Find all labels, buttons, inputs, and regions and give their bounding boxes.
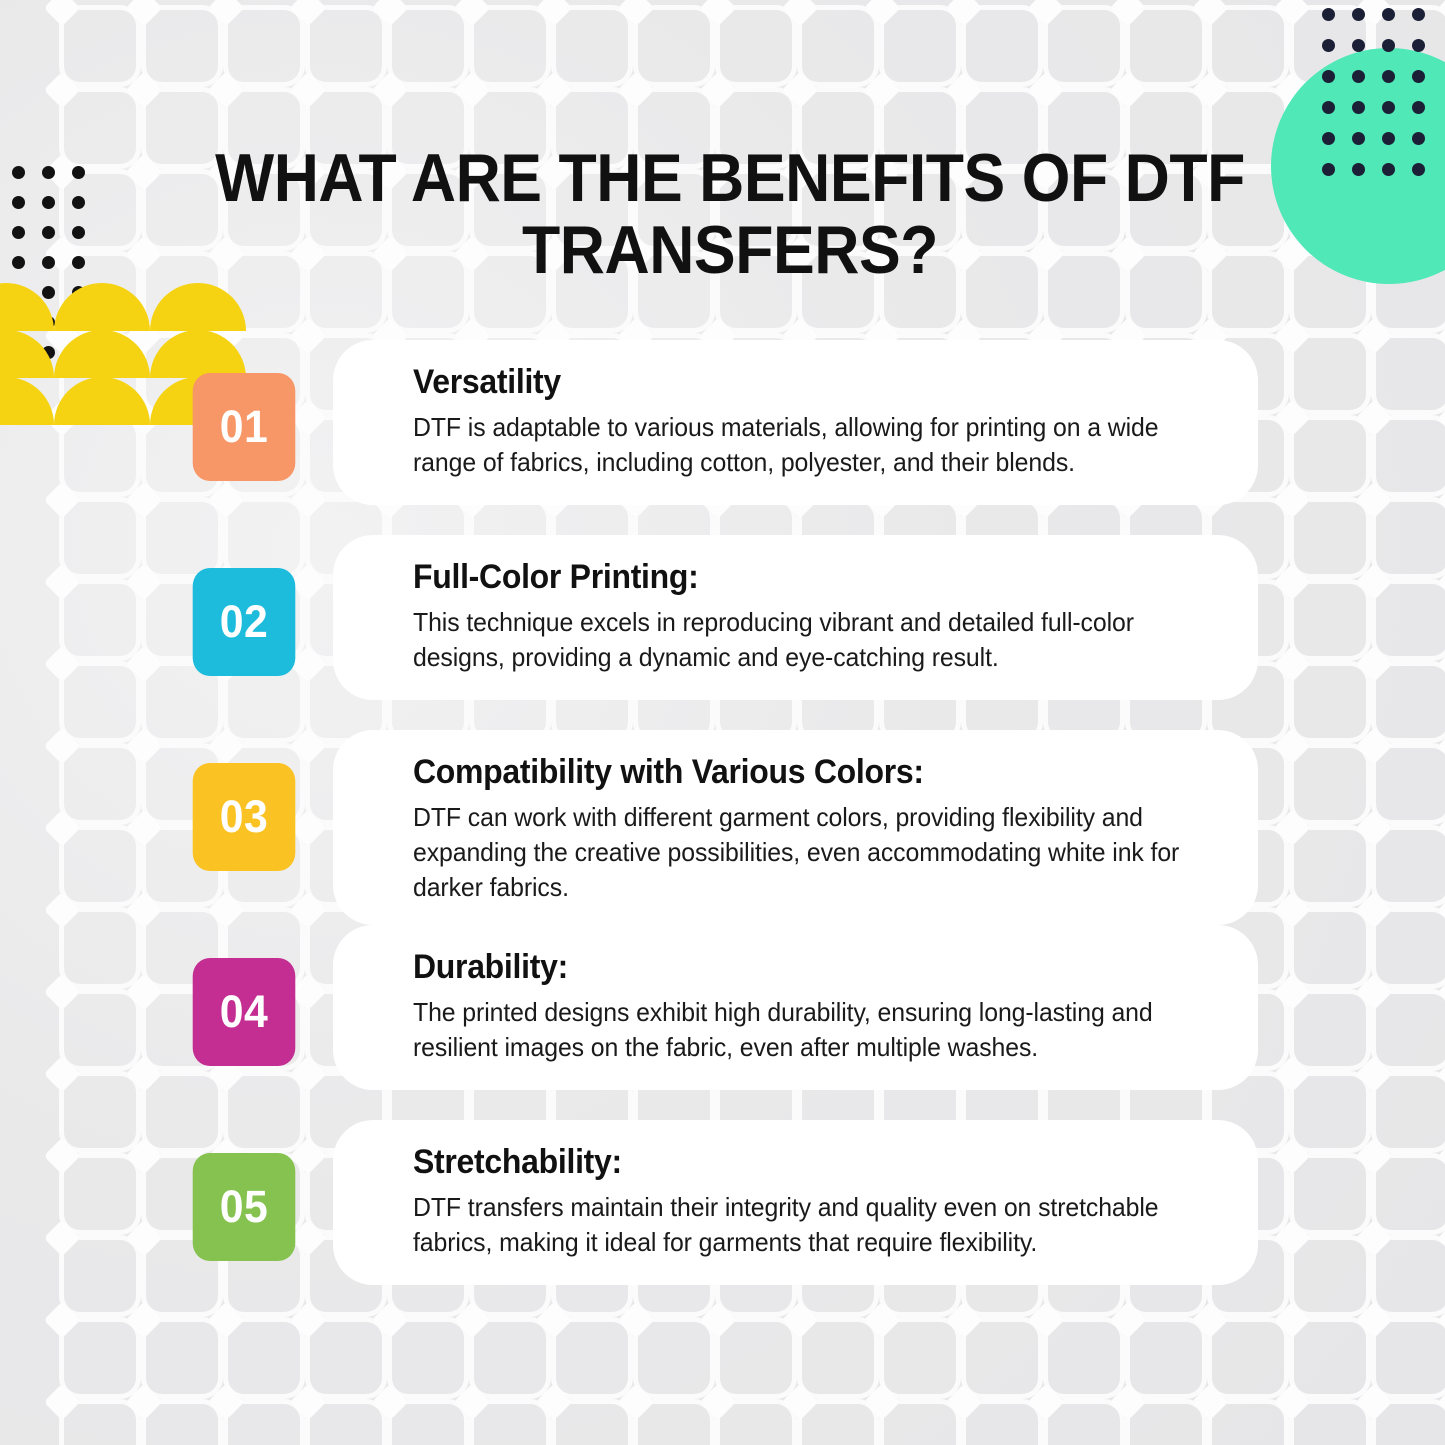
- page-title: WHAT ARE THE BENEFITS OF DTF TRANSFERS?: [187, 142, 1273, 286]
- semicircle: [150, 283, 246, 331]
- grid-diamond: [126, 0, 163, 26]
- benefit-body-text: This technique excels in reproducing vib…: [413, 605, 1184, 675]
- grid-cell: [802, 10, 874, 82]
- grid-diamond: [618, 0, 655, 26]
- grid-diamond: [1110, 0, 1147, 26]
- decorative-dot: [42, 166, 55, 179]
- decorative-dot: [72, 256, 85, 269]
- grid-cell: [392, 10, 464, 82]
- decorative-dot: [1352, 101, 1365, 114]
- benefit-card: Durability:The printed designs exhibit h…: [333, 925, 1258, 1090]
- decorative-dot: [72, 196, 85, 209]
- grid-cell: [802, 1404, 874, 1445]
- decorative-dot: [1382, 70, 1395, 83]
- benefit-row: 02Full-Color Printing:This technique exc…: [0, 535, 1445, 730]
- decorative-dot: [1412, 39, 1425, 52]
- benefit-card: Compatibility with Various Colors:DTF ca…: [333, 730, 1258, 925]
- benefit-row: 04Durability:The printed designs exhibit…: [0, 925, 1445, 1120]
- grid-diamond: [454, 72, 491, 109]
- grid-cell: [556, 10, 628, 82]
- decorative-dot: [1382, 39, 1395, 52]
- benefit-body-text: DTF transfers maintain their integrity a…: [413, 1190, 1184, 1260]
- grid-cell: [64, 1404, 136, 1445]
- decorative-dot: [12, 256, 25, 269]
- grid-diamond: [290, 1384, 327, 1421]
- grid-cell: [228, 1404, 300, 1445]
- grid-cell: [638, 10, 710, 82]
- grid-cell: [1130, 10, 1202, 82]
- benefit-heading: Compatibility with Various Colors:: [413, 752, 1172, 792]
- grid-diamond: [1110, 72, 1147, 109]
- grid-cell: [884, 1404, 956, 1445]
- grid-diamond: [290, 0, 327, 26]
- grid-cell: [146, 1404, 218, 1445]
- grid-diamond: [454, 1384, 491, 1421]
- grid-cell: [966, 10, 1038, 82]
- grid-cell: [720, 1404, 792, 1445]
- decorative-dot: [1352, 132, 1365, 145]
- grid-diamond: [864, 72, 901, 109]
- grid-cell: [1048, 1322, 1120, 1394]
- grid-diamond: [1028, 0, 1065, 26]
- benefit-number-badge: 05: [193, 1153, 296, 1261]
- grid-diamond: [700, 1384, 737, 1421]
- decorative-dot: [42, 256, 55, 269]
- grid-cell: [64, 92, 136, 164]
- decorative-dot: [1382, 163, 1395, 176]
- grid-cell: [228, 10, 300, 82]
- grid-cell: [474, 1322, 546, 1394]
- grid-diamond: [618, 72, 655, 109]
- decorative-dot: [1352, 70, 1365, 83]
- benefit-body-text: The printed designs exhibit high durabil…: [413, 995, 1184, 1065]
- grid-cell: [966, 1404, 1038, 1445]
- grid-diamond: [1438, 0, 1445, 26]
- grid-diamond: [290, 72, 327, 109]
- grid-diamond: [44, 72, 81, 109]
- grid-cell: [1130, 1322, 1202, 1394]
- grid-diamond: [208, 0, 245, 26]
- decorative-dot: [72, 226, 85, 239]
- benefit-row: 05Stretchability:DTF transfers maintain …: [0, 1120, 1445, 1315]
- grid-cell: [310, 1322, 382, 1394]
- grid-diamond: [1192, 1384, 1229, 1421]
- decorative-dot: [12, 226, 25, 239]
- grid-diamond: [126, 1384, 163, 1421]
- decorative-dot: [12, 196, 25, 209]
- decorative-dot: [1322, 70, 1335, 83]
- grid-diamond: [1028, 1384, 1065, 1421]
- decorative-dot: [12, 166, 25, 179]
- grid-cell: [1212, 1404, 1284, 1445]
- grid-diamond: [1110, 1384, 1147, 1421]
- benefit-body-text: DTF is adaptable to various materials, a…: [413, 410, 1184, 480]
- grid-cell: [720, 1322, 792, 1394]
- grid-cell: [1212, 1322, 1284, 1394]
- decorative-dot: [42, 226, 55, 239]
- grid-diamond: [1274, 1384, 1311, 1421]
- benefit-number-badge: 01: [193, 373, 296, 481]
- grid-diamond: [44, 1384, 81, 1421]
- grid-cell: [1376, 1404, 1445, 1445]
- grid-diamond: [44, 0, 81, 26]
- grid-diamond: [1192, 72, 1229, 109]
- grid-cell: [638, 1404, 710, 1445]
- grid-cell: [638, 1322, 710, 1394]
- grid-diamond: [454, 0, 491, 26]
- grid-cell: [1212, 10, 1284, 82]
- benefit-number-badge: 02: [193, 568, 296, 676]
- grid-diamond: [782, 72, 819, 109]
- grid-diamond: [618, 1384, 655, 1421]
- grid-diamond: [1356, 1384, 1393, 1421]
- benefit-body-text: DTF can work with different garment colo…: [413, 800, 1184, 905]
- decorative-dot: [42, 286, 55, 299]
- grid-cell: [146, 1322, 218, 1394]
- grid-cell: [146, 10, 218, 82]
- grid-cell: [802, 1322, 874, 1394]
- grid-diamond: [536, 72, 573, 109]
- grid-cell: [310, 1404, 382, 1445]
- grid-cell: [474, 1404, 546, 1445]
- decorative-dot: [1382, 132, 1395, 145]
- decorative-dot: [1352, 8, 1365, 21]
- grid-cell: [392, 1322, 464, 1394]
- grid-diamond: [372, 72, 409, 109]
- grid-cell: [228, 1322, 300, 1394]
- grid-cell: [1048, 10, 1120, 82]
- grid-cell: [556, 1404, 628, 1445]
- benefit-card: VersatilityDTF is adaptable to various m…: [333, 340, 1258, 505]
- benefit-row: 01VersatilityDTF is adaptable to various…: [0, 340, 1445, 535]
- semicircle: [54, 283, 150, 331]
- grid-cell: [474, 10, 546, 82]
- grid-cell: [966, 1322, 1038, 1394]
- grid-diamond: [126, 236, 163, 273]
- decorative-dot: [1352, 39, 1365, 52]
- grid-diamond: [208, 72, 245, 109]
- benefit-number-badge: 03: [193, 763, 296, 871]
- decorative-dot: [1412, 101, 1425, 114]
- decorative-dot: [1322, 101, 1335, 114]
- infographic-poster: WHAT ARE THE BENEFITS OF DTF TRANSFERS? …: [0, 0, 1445, 1445]
- decorative-dot: [1322, 39, 1335, 52]
- grid-diamond: [372, 1384, 409, 1421]
- grid-cell: [1294, 1322, 1366, 1394]
- decorative-dot: [1382, 8, 1395, 21]
- grid-diamond: [536, 1384, 573, 1421]
- grid-diamond: [1028, 72, 1065, 109]
- benefit-card: Full-Color Printing:This technique excel…: [333, 535, 1258, 700]
- grid-cell: [64, 1322, 136, 1394]
- grid-diamond: [1192, 0, 1229, 26]
- grid-cell: [1294, 1404, 1366, 1445]
- grid-diamond: [126, 154, 163, 191]
- benefits-list: 01VersatilityDTF is adaptable to various…: [0, 340, 1445, 1315]
- benefit-card: Stretchability:DTF transfers maintain th…: [333, 1120, 1258, 1285]
- grid-diamond: [126, 72, 163, 109]
- grid-cell: [720, 10, 792, 82]
- grid-diamond: [946, 1384, 983, 1421]
- grid-diamond: [782, 0, 819, 26]
- grid-cell: [884, 1322, 956, 1394]
- grid-cell: [1130, 1404, 1202, 1445]
- decorative-dot: [1382, 101, 1395, 114]
- grid-diamond: [700, 72, 737, 109]
- decorative-dot: [1352, 163, 1365, 176]
- decorative-dot: [72, 166, 85, 179]
- benefit-heading: Stretchability:: [413, 1142, 1172, 1182]
- grid-cell: [1048, 1404, 1120, 1445]
- grid-diamond: [864, 1384, 901, 1421]
- grid-diamond: [372, 0, 409, 26]
- decorative-dot: [42, 196, 55, 209]
- benefit-heading: Durability:: [413, 947, 1172, 987]
- decorative-dot: [1412, 8, 1425, 21]
- grid-cell: [556, 1322, 628, 1394]
- grid-diamond: [700, 0, 737, 26]
- grid-cell: [310, 10, 382, 82]
- grid-diamond: [864, 0, 901, 26]
- decorative-dot: [1322, 163, 1335, 176]
- grid-diamond: [1274, 0, 1311, 26]
- decorative-dot: [1322, 132, 1335, 145]
- benefit-heading: Full-Color Printing:: [413, 557, 1172, 597]
- grid-diamond: [536, 0, 573, 26]
- decorative-dot: [1412, 163, 1425, 176]
- grid-cell: [1376, 1322, 1445, 1394]
- grid-diamond: [946, 0, 983, 26]
- grid-diamond: [208, 1384, 245, 1421]
- decorative-dot: [1412, 132, 1425, 145]
- decorative-dot: [1322, 8, 1335, 21]
- grid-diamond: [1438, 1384, 1445, 1421]
- grid-diamond: [946, 72, 983, 109]
- benefit-row: 03Compatibility with Various Colors:DTF …: [0, 730, 1445, 925]
- grid-cell: [392, 1404, 464, 1445]
- decorative-dot: [1412, 70, 1425, 83]
- grid-cell: [64, 10, 136, 82]
- benefit-number-badge: 04: [193, 958, 296, 1066]
- grid-diamond: [782, 1384, 819, 1421]
- benefit-heading: Versatility: [413, 362, 1172, 402]
- grid-cell: [884, 10, 956, 82]
